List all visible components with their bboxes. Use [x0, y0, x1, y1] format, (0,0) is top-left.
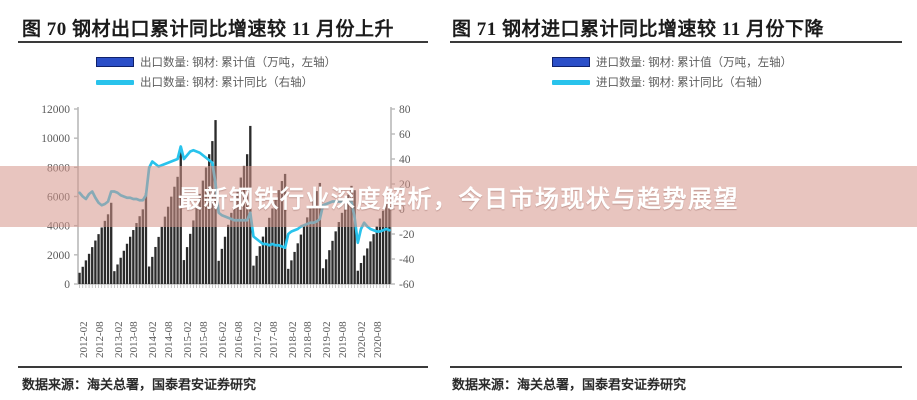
figure-70-source-rule — [18, 366, 428, 368]
chart-bar — [151, 257, 153, 284]
figure-70-x-axis-labels: 2012-022012-082013-022013-082014-022014-… — [20, 300, 435, 356]
chart-bar — [363, 256, 365, 284]
x-axis-tick-label: 2013-08 — [128, 321, 140, 358]
figure-71-source: 数据来源：海关总署，国泰君安证券研究 — [452, 374, 686, 393]
figure-70-title-rule — [18, 41, 428, 43]
chart-bar — [360, 263, 362, 284]
chart-bar — [224, 237, 226, 284]
legend-bar-label: 出口数量: 钢材: 累计值（万吨，左轴） — [140, 54, 336, 70]
x-axis-tick-label: 2014-08 — [163, 321, 175, 358]
x-axis-tick-label: 2012-08 — [94, 321, 106, 358]
x-axis-tick-label: 2020-02 — [356, 321, 368, 358]
x-axis-tick-label: 2013-02 — [113, 321, 125, 358]
figure-71-x-axis-labels: 2012-022012-082013-022013-082014-022014-… — [912, 300, 917, 356]
figure-71-title-rule — [450, 41, 902, 43]
chart-bar — [376, 226, 378, 284]
x-axis-tick-label: 2017-08 — [268, 321, 280, 358]
chart-bar — [366, 248, 368, 284]
figure-70-source: 数据来源：海关总署，国泰君安证券研究 — [22, 374, 256, 393]
legend-item-bar: 出口数量: 钢材: 累计值（万吨，左轴） — [96, 54, 336, 70]
legend-item-line: 出口数量: 钢材: 累计同比（右轴） — [96, 74, 336, 90]
x-axis-tick-label: 2019-02 — [321, 321, 333, 358]
chart-bar — [132, 230, 134, 284]
x-axis-tick-label: 2014-02 — [147, 321, 159, 358]
chart-bar — [300, 235, 302, 284]
chart-bar — [297, 243, 299, 284]
x-axis-tick-label: 2017-02 — [252, 321, 264, 358]
chart-bar — [183, 260, 185, 284]
chart-bar — [101, 227, 103, 284]
figure-71-source-rule — [450, 366, 902, 368]
y2-axis-tick-label: 80 — [399, 104, 411, 116]
chart-bar — [306, 217, 308, 284]
chart-bar — [227, 225, 229, 284]
chart-bar — [322, 268, 324, 284]
chart-bar — [126, 244, 128, 284]
chart-bar — [116, 264, 118, 284]
figure-71-legend: 进口数量: 钢材: 累计值（万吨，左轴） 进口数量: 钢材: 累计同比（右轴） — [552, 54, 792, 90]
chart-bar — [88, 254, 90, 284]
x-axis-tick-label: 2018-02 — [287, 321, 299, 358]
figure-70-legend: 出口数量: 钢材: 累计值（万吨，左轴） 出口数量: 钢材: 累计同比（右轴） — [96, 54, 336, 90]
watermark-text: 最新钢铁行业深度解析，今日市场现状与趋势展望 — [0, 166, 917, 227]
chart-bar — [154, 247, 156, 284]
x-axis-tick-label: 2016-02 — [217, 321, 229, 358]
chart-bar — [290, 260, 292, 284]
x-axis-tick-label: 2016-08 — [233, 321, 245, 358]
chart-bar — [379, 219, 381, 284]
legend-line-swatch-icon — [96, 80, 134, 85]
figure-71-title: 图 71 钢材进口累计同比增速较 11 月份下降 — [452, 14, 824, 41]
chart-bar — [148, 267, 150, 285]
chart-bar — [335, 231, 337, 284]
chart-bar — [186, 247, 188, 284]
y2-axis-tick-label: -40 — [399, 254, 415, 266]
legend-item-bar: 进口数量: 钢材: 累计值（万吨，左轴） — [552, 54, 792, 70]
chart-bar — [325, 259, 327, 284]
chart-bar — [268, 218, 270, 284]
chart-bar — [97, 234, 99, 284]
chart-bar — [161, 227, 163, 284]
report-charts-page: 图 70 钢材出口累计同比增速较 11 月份上升 出口数量: 钢材: 累计值（万… — [0, 0, 917, 400]
chart-bar — [129, 237, 131, 284]
y-axis-tick-label: 0 — [64, 279, 70, 291]
y2-axis-tick-label: -60 — [399, 279, 415, 291]
chart-bar — [78, 273, 80, 284]
x-axis-tick-label: 2018-08 — [302, 321, 314, 358]
chart-bar — [372, 234, 374, 284]
chart-bar — [123, 251, 125, 284]
legend-item-line: 进口数量: 钢材: 累计同比（右轴） — [552, 74, 792, 90]
x-axis-tick-label: 2020-08 — [372, 321, 384, 358]
chart-bar — [357, 271, 359, 284]
y2-axis-tick-label: 60 — [399, 129, 411, 141]
x-axis-tick-label: 2015-08 — [198, 321, 210, 358]
legend-bar-swatch-icon — [96, 57, 134, 67]
legend-line-label: 进口数量: 钢材: 累计同比（右轴） — [596, 74, 769, 90]
y-axis-tick-label: 12000 — [41, 104, 70, 116]
chart-bar — [265, 227, 267, 284]
chart-bar — [189, 234, 191, 284]
chart-bar — [338, 222, 340, 284]
legend-line-swatch-icon — [552, 80, 590, 85]
chart-bar — [104, 221, 106, 284]
x-axis-tick-label: 2019-08 — [337, 321, 349, 358]
chart-bar — [259, 246, 261, 284]
y-axis-tick-label: 2000 — [47, 250, 70, 262]
legend-line-label: 出口数量: 钢材: 累计同比（右轴） — [140, 74, 313, 90]
chart-bar — [293, 252, 295, 284]
chart-bar — [218, 261, 220, 284]
chart-bar — [135, 223, 137, 284]
chart-bar — [157, 237, 159, 284]
chart-bar — [82, 267, 84, 284]
chart-bar — [192, 220, 194, 284]
y-axis-tick-label: 10000 — [41, 133, 70, 145]
chart-bar — [331, 241, 333, 284]
chart-bar — [328, 250, 330, 284]
chart-bar — [221, 249, 223, 284]
chart-bar — [303, 226, 305, 284]
chart-bar — [94, 241, 96, 284]
chart-bar — [252, 266, 254, 284]
legend-bar-swatch-icon — [552, 57, 590, 67]
chart-bar — [120, 258, 122, 284]
x-axis-tick-label: 2015-02 — [182, 321, 194, 358]
chart-bar — [113, 271, 115, 284]
chart-bar — [287, 269, 289, 284]
y2-axis-tick-label: 40 — [399, 154, 411, 166]
chart-bar — [255, 256, 257, 284]
y2-axis-tick-label: -20 — [399, 229, 415, 241]
figure-70-title: 图 70 钢材出口累计同比增速较 11 月份上升 — [22, 14, 394, 41]
chart-bar — [369, 241, 371, 284]
chart-bar — [85, 260, 87, 284]
x-axis-tick-label: 2012-02 — [78, 321, 90, 358]
chart-bar — [91, 247, 93, 284]
legend-bar-label: 进口数量: 钢材: 累计值（万吨，左轴） — [596, 54, 792, 70]
